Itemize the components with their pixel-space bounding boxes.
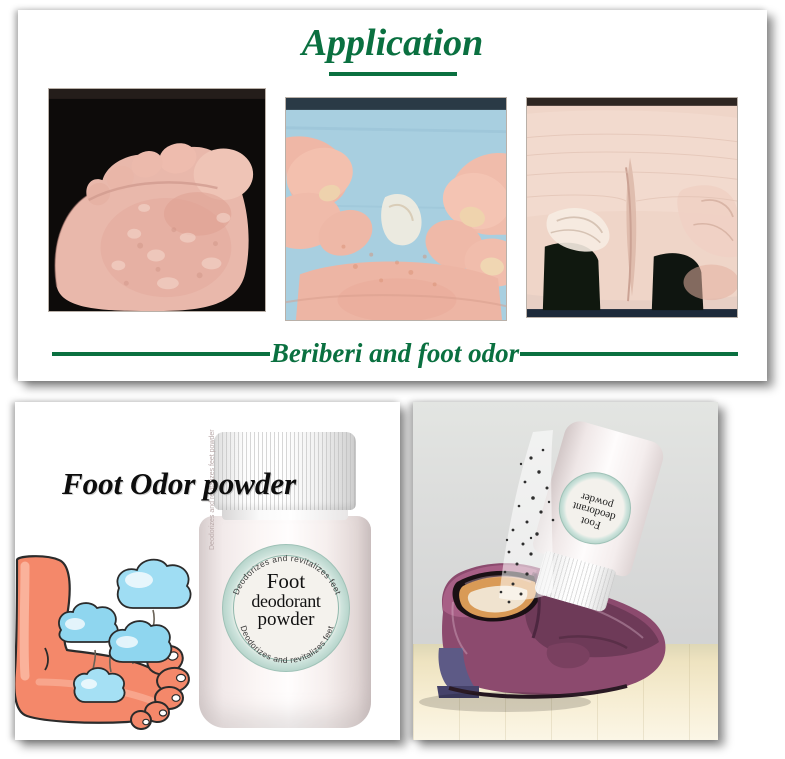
caption-rule-left [52, 352, 270, 356]
title-underline [329, 72, 457, 76]
bottle-label-line-2: deodorant [223, 592, 349, 610]
bottle-label: Deodorizes and revitalizes feet Deodoriz… [222, 544, 350, 672]
bottle-side-text: Deodorizes and revitalizes feet powder [208, 528, 217, 550]
product-heading: Foot Odor powder [62, 466, 296, 502]
caption-text: Beriberi and foot odor [270, 340, 520, 367]
page-title: Application [18, 24, 767, 64]
application-photo-2 [285, 97, 507, 321]
usage-panel: Foot deodorant powder [413, 402, 718, 740]
bottle-label-line-1: Foot [223, 571, 349, 592]
application-photo-strip [48, 88, 738, 326]
bottle-inverted-label-text: Foot deodorant powder [556, 485, 633, 538]
caption-row: Beriberi and foot odor [52, 340, 738, 367]
application-photo-3 [526, 97, 738, 318]
caption-rule-right [520, 352, 738, 356]
product-panel: Deodorizes and revitalizes feet powder D… [15, 402, 400, 740]
bottle-label-line-3: powder [223, 610, 349, 629]
application-panel: Application [18, 10, 767, 381]
application-photo-1 [48, 88, 266, 312]
bottle-label-text: Foot deodorant powder [223, 571, 349, 629]
